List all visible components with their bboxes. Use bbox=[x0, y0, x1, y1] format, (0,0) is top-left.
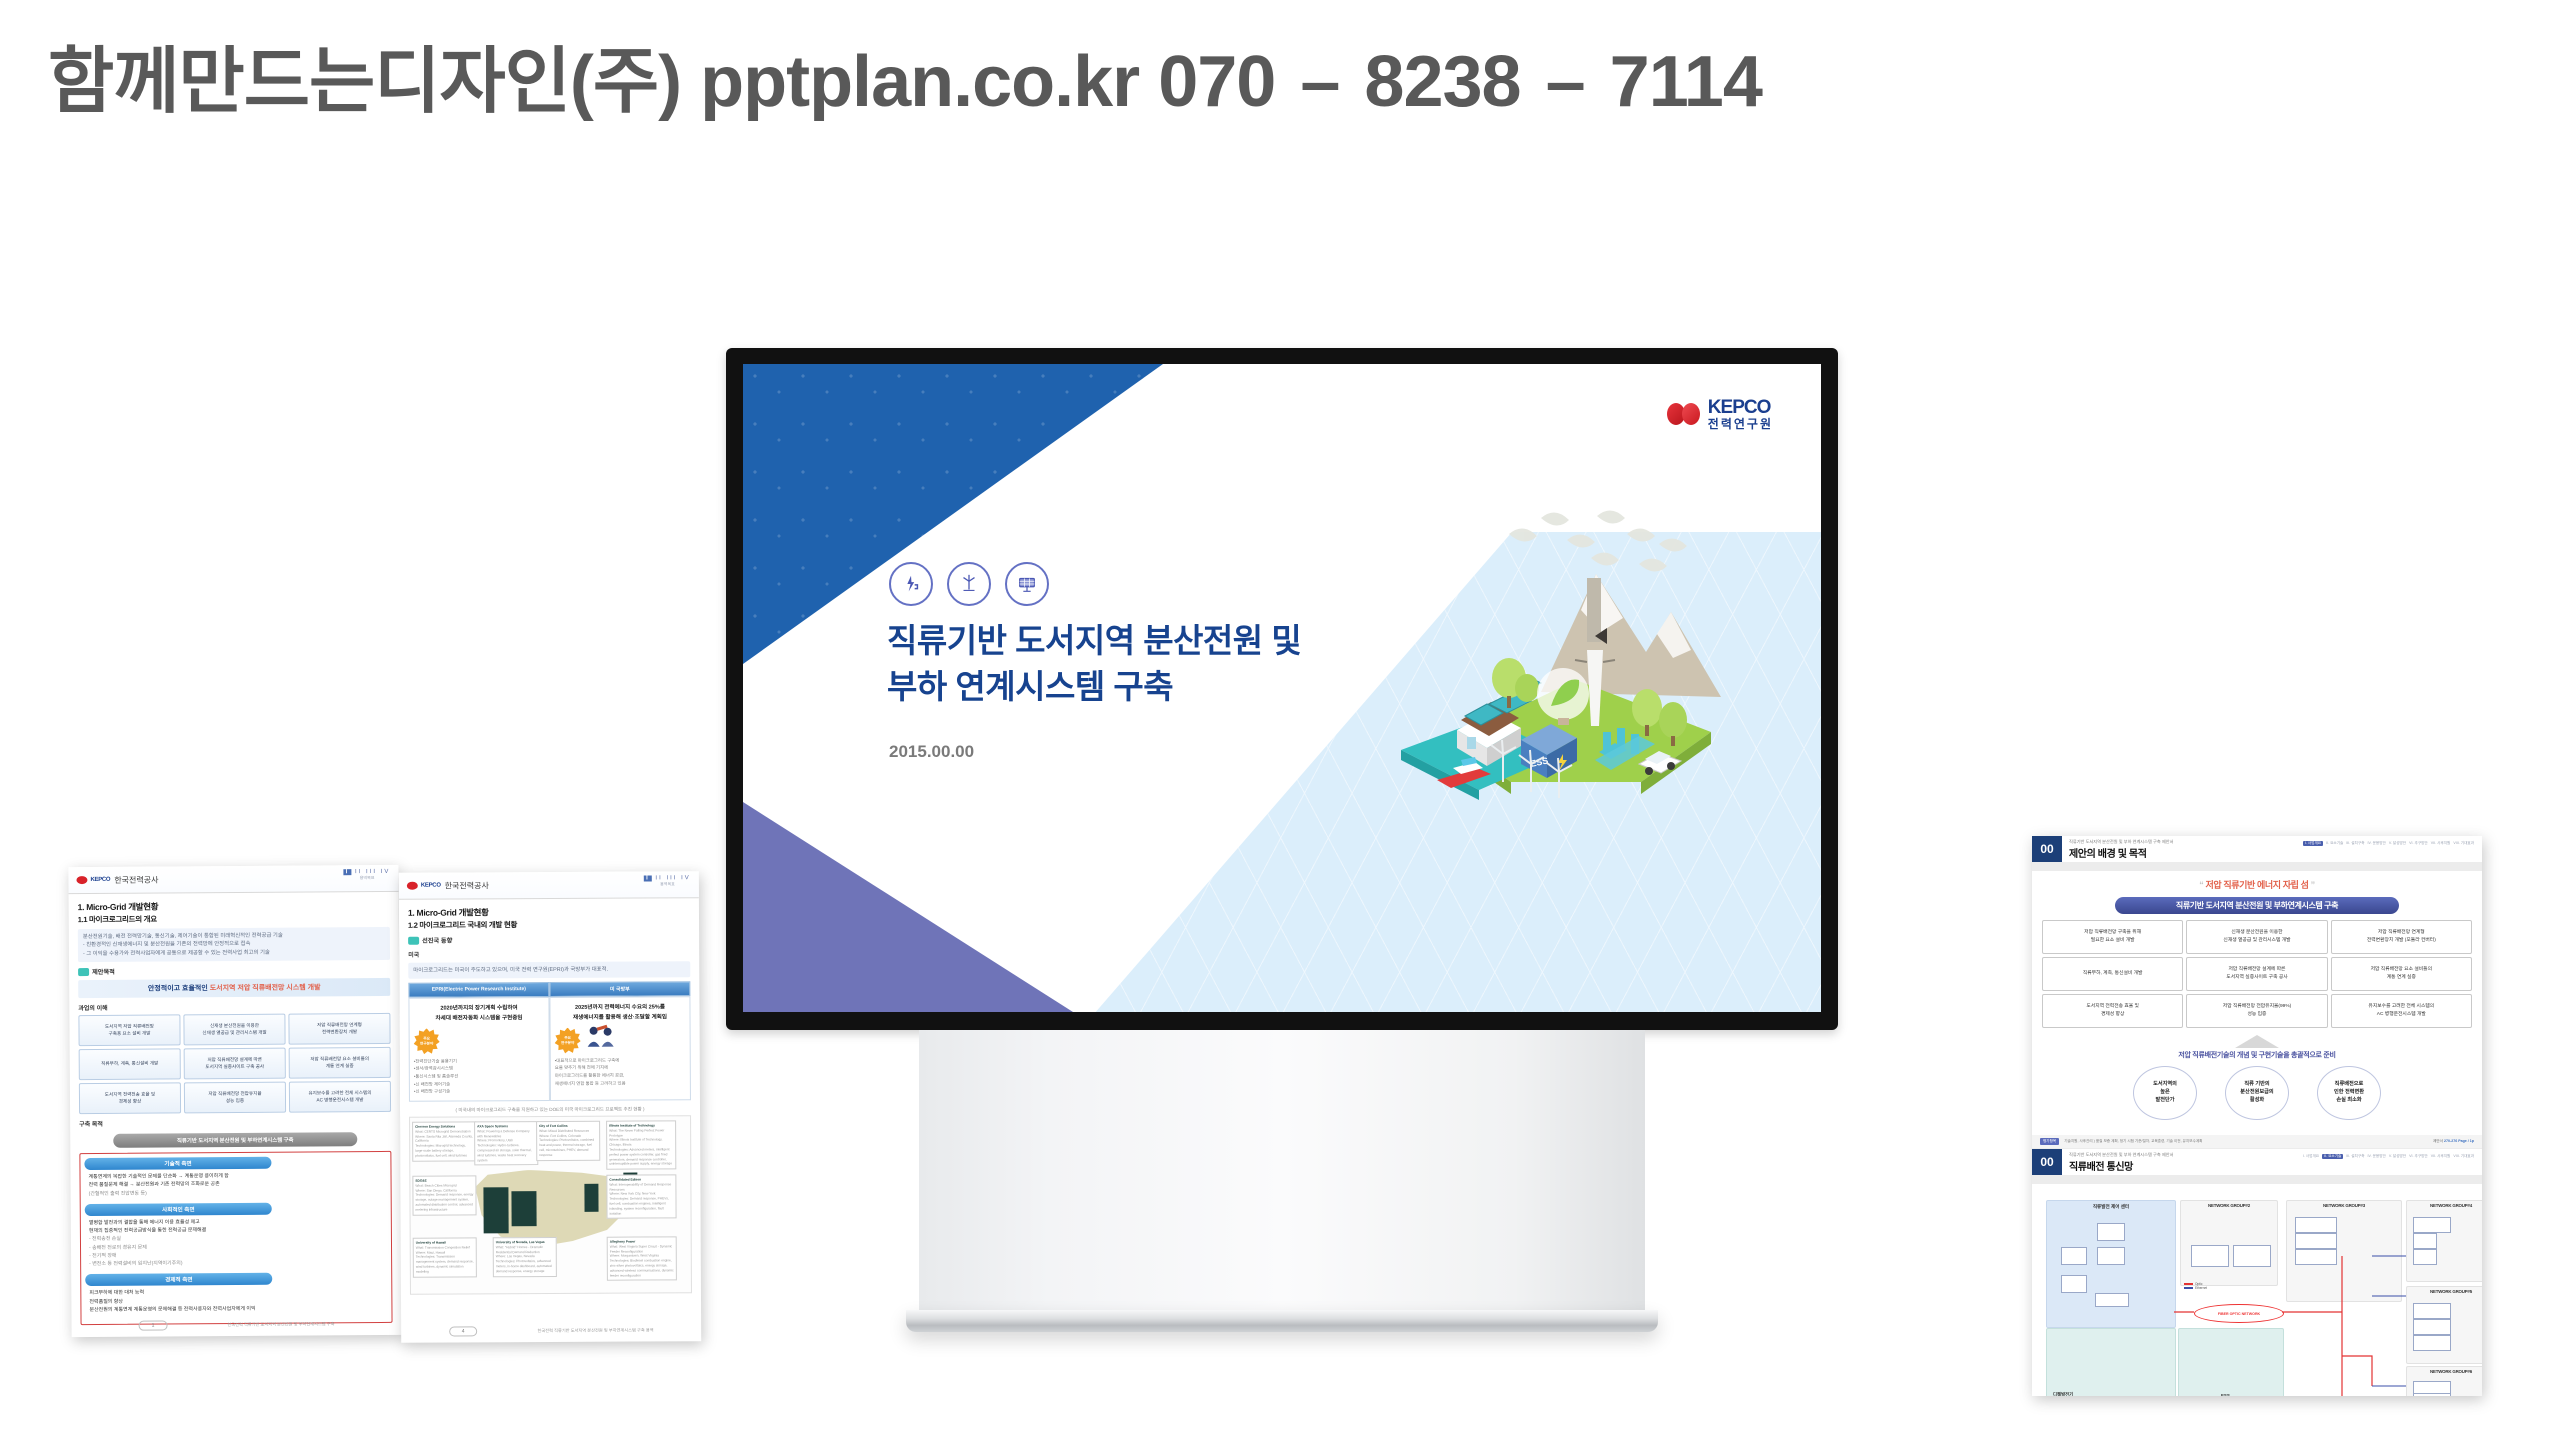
doc2-section-title: 1. Micro-Grid 개발현황 bbox=[408, 905, 690, 918]
doc1-task-cell: 신재생 분산전원을 이용한 신재생 열공급 및 관리시스템 개발 bbox=[183, 1014, 285, 1046]
doc2-us-map: Chevron Energy Solutions What: CERTS Mic… bbox=[409, 1115, 692, 1294]
header-dash-2: – bbox=[1540, 42, 1591, 122]
right-slide-a-band bbox=[2032, 862, 2482, 871]
kepco-logo-text: KEPCO 전력연구원 bbox=[1708, 398, 1773, 430]
monitor-stand-neck bbox=[919, 1030, 1645, 1330]
control-center-label: 직류발전 제어 센터 bbox=[2047, 1201, 2175, 1213]
slide-date: 2015.00.00 bbox=[889, 742, 974, 762]
nav-item[interactable]: I. 사업개요 bbox=[2303, 841, 2323, 846]
network-group-6: NETWORK GROUP#6 bbox=[2406, 1366, 2482, 1396]
doc1-aspect-list: 계통연계의 복잡한 기술적인 문제를 단순화 → 계통운영 용이하게 함 전력 … bbox=[89, 1171, 387, 1198]
right-cell: 저압 직류배전망 구축을 위해 필요한 요소 설비 개발 bbox=[2042, 920, 2183, 954]
slide-title-line-1: 직류기반 도서지역 분산전원 및 bbox=[887, 618, 1447, 664]
slide-title: 직류기반 도서지역 분산전원 및 부하 연계시스템 구축 bbox=[887, 618, 1447, 709]
doc2-table-cell: 2020년까지의 장기계획 수립하여 차세대 배전자동화 시스템을 구현중임 주… bbox=[408, 997, 550, 1101]
ess-block: ESS bbox=[2178, 1328, 2284, 1396]
diesel-ess-block: 디젤발전기 bbox=[2046, 1328, 2176, 1396]
map-callout: Illinois Institute of Technology What: T… bbox=[606, 1120, 676, 1170]
check-chip-icon bbox=[408, 936, 419, 944]
doc1-label-goal: 구축 목적 bbox=[79, 1117, 391, 1128]
document-page-left-2[interactable]: KEPCO 한국전력공사 I II III IV 용역목표 1. Micro-G… bbox=[399, 871, 701, 1343]
monitor-mockup: KEPCO 전력연구원 bbox=[726, 348, 1838, 1030]
doc1-task-cell: 저압 직류배전망 요소 설비들의 계통 연계 실증 bbox=[289, 1047, 391, 1079]
doc1-aspect-cap: 사회적인 측면 bbox=[85, 1203, 272, 1216]
nav-item[interactable]: II. 요소기술 bbox=[2322, 1154, 2343, 1159]
doc2-header: KEPCO 한국전력공사 I II III IV 용역목표 bbox=[399, 871, 699, 900]
kepco-logo: KEPCO 전력연구원 bbox=[1667, 398, 1773, 430]
doc1-paragraph: 분산전원기술, 배전 전력망기술, 통신기술, 제어기술이 통합된 미래혁신적인… bbox=[78, 927, 390, 962]
doc1-task-cell: 유지보수를 고려한 전체 시스템의 AC 병행운전시스템 개발 bbox=[289, 1081, 391, 1113]
doc1-footer-text: 한국전력 직류기반 도서지역 분산전원 및 부하연계시스템 구축 bbox=[227, 1321, 334, 1328]
map-callout: Chevron Energy Solutions What: CERTS Mic… bbox=[412, 1121, 476, 1161]
state-highlight bbox=[483, 1188, 508, 1234]
benefit-circle: 직류배전으로 인한 전력변환 손실 최소화 bbox=[2317, 1066, 2381, 1120]
doc2-section-sub: 1.2 마이크로그리드 국내외 개발 현황 bbox=[408, 918, 690, 930]
doc1-task-cell: 직류부하, 계측, 통신설비 개발 bbox=[79, 1049, 181, 1081]
doc1-goal-pill: 직류기반 도서지역 분산전원 및 부하연계시스템 구축 bbox=[114, 1132, 357, 1148]
wind-turbine-icon bbox=[947, 562, 991, 606]
nav-item[interactable]: III. 설치구축 bbox=[2346, 1154, 2364, 1159]
right-cell: 유지보수를 고려한 전체 시스템의 AC 병행운전시스템 개발 bbox=[2331, 994, 2472, 1028]
page-title: 함께만드는디자인(주) pptplan.co.kr 070 – 8238 – 7… bbox=[48, 22, 1762, 127]
doc1-banner: 안정적이고 효율적인 도서지역 저압 직류배전망 시스템 개발 bbox=[78, 978, 390, 998]
header-phone-1: 070 bbox=[1158, 42, 1275, 122]
ess-label: ESS bbox=[2221, 1393, 2230, 1396]
power-plug-icon bbox=[889, 562, 933, 606]
right-slide-b-header: 00 직류기반 도서지역 분산전원 및 부하 연계시스템 구축 제안서 직류배전… bbox=[2032, 1149, 2482, 1175]
right-slide-a-page: 제안서 270-276 Page / 1p bbox=[2433, 1139, 2474, 1144]
doc1-nav: I II III IV 용역목표 bbox=[344, 869, 391, 881]
doc1-tag-purpose: 제안목적 bbox=[78, 965, 390, 976]
doc2-footer: 4 한국전력 직류기반 도서지역 분산전원 및 부하연계시스템 구축 용역 bbox=[401, 1325, 701, 1337]
network-group-4: NETWORK GROUP#4 bbox=[2406, 1200, 2482, 1282]
right-slide-a-grid: 저압 직류배전망 구축을 위해 필요한 요소 설비 개발 신재생 분산전원을 이… bbox=[2042, 920, 2472, 1028]
nav-item[interactable]: II. 요소기술 bbox=[2326, 841, 2343, 846]
nav-item[interactable]: V. 달성방안 bbox=[2389, 841, 2406, 846]
research-badge-icon: 주요 연구분야 bbox=[555, 1027, 581, 1053]
right-slide-a-subtitle: 저압 직류배전기술의 개념 및 구현기술을 총괄적으로 준비 bbox=[2042, 1050, 2472, 1060]
nav-item[interactable]: IV. 운용방안 bbox=[2368, 841, 2386, 846]
map-callout: Consolidated Edison What: Interoperabili… bbox=[606, 1174, 676, 1219]
map-callout: Allegheny Power What: West Virginia Supe… bbox=[607, 1236, 677, 1281]
slide-illustration: ESS bbox=[1391, 482, 1771, 812]
nav-item[interactable]: IV. 운용방안 bbox=[2368, 1154, 2386, 1159]
header-dash-1: – bbox=[1294, 42, 1345, 122]
doc2-table-header: EPRI(Electric Power Research Institute) bbox=[408, 982, 549, 998]
map-callout: University of Hawaii What: Transmission … bbox=[413, 1237, 477, 1277]
right-slide-a-body: “ 저압 직류기반 에너지 자립 섬 ” 직류기반 도서지역 분산전원 및 부하… bbox=[2032, 871, 2482, 1127]
doc1-body: 1. Micro-Grid 개발현황 1.1 마이크로그리드의 개요 분산전원기… bbox=[69, 892, 402, 1332]
right-slide-a-titles: 직류기반 도서지역 분산전원 및 부하 연계시스템 구축 제안서 제안의 배경 … bbox=[2062, 836, 2173, 862]
doc2-corp-name: 한국전력공사 bbox=[445, 880, 489, 891]
doc2-tag-trend: 선진국 동향 bbox=[408, 934, 690, 944]
doc2-paragraph: 마이크로그리드는 미국이 주도하고 있으며, 미국 전력 연구원(EPRI)과 … bbox=[408, 961, 690, 979]
slide-purple-triangle bbox=[743, 802, 1073, 1012]
right-slide-a-pill: 직류기반 도서지역 분산전원 및 부하연계시스템 구축 bbox=[2115, 897, 2399, 914]
header-site: pptplan.co.kr bbox=[700, 42, 1139, 122]
right-slide-a-title: 제안의 배경 및 목적 bbox=[2069, 845, 2173, 860]
network-diagram: 직류발전 제어 센터 디젤발전기 ESS NETWORK GROUP#1 NET… bbox=[2042, 1196, 2472, 1396]
solar-panel-icon bbox=[1005, 562, 1049, 606]
doc2-map-caption: ( 미국내의 마이크로그리드 구축을 지원하고 있는 DOE의 미국 마이크로그… bbox=[409, 1106, 691, 1113]
right-slide-a-number: 00 bbox=[2032, 836, 2062, 862]
doc2-page-number: 4 bbox=[449, 1326, 478, 1336]
doc1-task-cell: 도서지역 전력전송 효율 및 경제성 향상 bbox=[79, 1083, 181, 1115]
research-badge-icon: 주요 연구분야 bbox=[414, 1028, 440, 1054]
state-highlight bbox=[511, 1191, 536, 1226]
nav-item[interactable]: VI. 추구방안 bbox=[2409, 841, 2428, 846]
up-arrow-icon bbox=[2235, 1035, 2279, 1048]
doc1-brand: KEPCO bbox=[90, 877, 110, 883]
doc2-kepco-logo-icon: KEPCO bbox=[407, 882, 441, 890]
doc1-kepco-logo-icon: KEPCO bbox=[76, 876, 110, 884]
map-callout: University of Nevada, Las Vegas What: "H… bbox=[493, 1237, 557, 1277]
map-callout: AXA Space Systems What: Powering a Defen… bbox=[474, 1121, 538, 1166]
doc1-label-tasks: 과업의 이해 bbox=[78, 1001, 390, 1012]
doc1-aspects-box: 기술적 측면 계통연계의 복잡한 기술적인 문제를 단순화 → 계통운영 용이하… bbox=[79, 1151, 392, 1325]
doc1-task-cell: 저압 직류배전망 연계형 전력변환장치 개발 bbox=[288, 1013, 390, 1045]
right-slide-b-nav[interactable]: I. 사업개요 II. 요소기술 III. 설치구축 IV. 운용방안 V. 달… bbox=[2303, 1154, 2474, 1159]
monitor-screen: KEPCO 전력연구원 bbox=[743, 364, 1821, 1012]
diagram-legend: Optic Ethernet bbox=[2184, 1282, 2207, 1290]
right-cell: 저압 직류배전망 연계형 전력변환장치 개발 (모듈라 컨버터) bbox=[2331, 920, 2472, 954]
header-phone-2: 8238 bbox=[1364, 42, 1520, 122]
nav-item[interactable]: VII. 사후지원 bbox=[2431, 841, 2451, 846]
right-slide-background-purpose: I. 사업개요 II. 요소기술 III. 설치구축 IV. 운용방안 V. 달… bbox=[2032, 836, 2482, 1149]
doc1-section-sub: 1.1 마이크로그리드의 개요 bbox=[78, 912, 390, 925]
nav-item[interactable]: VIII. 기대효과 bbox=[2453, 841, 2474, 846]
doc2-table-cell: 2025년까지 전력에너지 수요의 25%를 재생에너지를 활용해 생산·조달할… bbox=[549, 997, 691, 1101]
doc2-table: EPRI(Electric Power Research Institute) … bbox=[408, 982, 691, 1102]
right-slide-dc-network: I. 사업개요 II. 요소기술 III. 설치구축 IV. 운용방안 V. 달… bbox=[2032, 1149, 2482, 1396]
fiber-optic-network-node: FIBER OPTIC NETWORK bbox=[2194, 1304, 2284, 1323]
right-cell: 저압 직류배전망 전압유지율(99%) 성능 입증 bbox=[2186, 994, 2327, 1028]
doc1-aspect-cap: 기술적 측면 bbox=[84, 1157, 271, 1170]
document-page-left-1[interactable]: KEPCO 한국전력공사 I II III IV 용역목표 1. Micro-G… bbox=[68, 865, 401, 1337]
nav-item[interactable]: VI. 추구방안 bbox=[2409, 1154, 2428, 1159]
benefit-circle: 도서지역의 높은 발전단가 bbox=[2133, 1066, 2197, 1120]
doc1-corp-name: 한국전력공사 bbox=[114, 874, 158, 885]
map-callout: City of Fort Collins What: Mixed Distrib… bbox=[536, 1121, 600, 1161]
doc1-page-number: 1 bbox=[139, 1320, 168, 1330]
doc2-brand: KEPCO bbox=[421, 883, 441, 889]
nav-item[interactable]: VII. 사후지원 bbox=[2431, 1154, 2451, 1159]
doc1-aspect-list: 피크부하에 대한 대처 능력 전력품질의 향상 분산전원의 계통연계 계통운영의… bbox=[89, 1287, 387, 1314]
doc1-task-cell: 도서지역 저압 직류배전망 구축용 요소 설비 개발 bbox=[78, 1015, 180, 1047]
nav-item[interactable]: III. 설치구축 bbox=[2346, 841, 2364, 846]
right-cell: 저압 직류배전망 요소 설비들의 계통 연계 실증 bbox=[2331, 957, 2472, 991]
document-page-right[interactable]: I. 사업개요 II. 요소기술 III. 설치구축 IV. 운용방안 V. 달… bbox=[2032, 836, 2482, 1396]
doc2-nav: I II III IV 용역목표 bbox=[644, 875, 691, 887]
right-slide-a-footer-text: 기술지원, 사후관리 ) 품질 보증 계획, 정기 시험 기준/절차, 교육훈련… bbox=[2064, 1139, 2433, 1144]
nav-item[interactable]: I. 사업개요 bbox=[2303, 1154, 2319, 1159]
doc2-nav-caption: 용역목표 bbox=[644, 881, 691, 887]
right-slide-a-header: 00 직류기반 도서지역 분산전원 및 부하 연계시스템 구축 제안서 제안의 … bbox=[2032, 836, 2482, 862]
right-cell: 도서지역 전력전송 효율 및 경제성 향상 bbox=[2042, 994, 2183, 1028]
legend-label: Ethernet bbox=[2195, 1286, 2207, 1290]
kepco-sub: 전력연구원 bbox=[1708, 418, 1773, 430]
control-center-block: 직류발전 제어 센터 bbox=[2046, 1200, 2176, 1328]
right-slide-b-body: 직류발전 제어 센터 디젤발전기 ESS NETWORK GROUP#1 NET… bbox=[2032, 1184, 2482, 1396]
right-slide-a-footer-label: 평가항목 bbox=[2040, 1138, 2059, 1145]
right-slide-b-number: 00 bbox=[2032, 1149, 2062, 1175]
doc2-table-header: 미 국방부 bbox=[549, 982, 690, 998]
right-slide-b-titles: 직류기반 도서지역 분산전원 및 부하 연계시스템 구축 제안서 직류배전 통신… bbox=[2062, 1149, 2173, 1175]
doc1-header: KEPCO 한국전력공사 I II III IV 용역목표 bbox=[68, 865, 398, 894]
benefit-circle: 직류 기반의 분산전원보급의 활성화 bbox=[2225, 1066, 2289, 1120]
slide-badge-row bbox=[889, 562, 1049, 606]
presentation-slide: KEPCO 전력연구원 bbox=[743, 364, 1821, 1012]
doc1-task-cell: 저압 직류배전망 설계에 따른 도서지역 실증사이트 구축 공사 bbox=[184, 1048, 286, 1080]
right-slide-b-band bbox=[2032, 1175, 2482, 1184]
right-slide-a-circles: 도서지역의 높은 발전단가 직류 기반의 분산전원보급의 활성화 직류배전으로 … bbox=[2042, 1066, 2472, 1120]
check-chip-icon bbox=[78, 968, 89, 976]
network-group-2: NETWORK GROUP#2 bbox=[2180, 1200, 2278, 1286]
right-cell: 저압 직류배전망 설계에 따른 도서지역 실증사이트 구축 공사 bbox=[2186, 957, 2327, 991]
monitor-stand-base bbox=[906, 1310, 1658, 1332]
doc1-task-cell: 저압 직류배전망 전압유지율 성능 입증 bbox=[184, 1082, 286, 1114]
right-cell: 직류부하, 계측, 통신설비 개발 bbox=[2042, 957, 2183, 991]
right-slide-a-footer: 평가항목 기술지원, 사후관리 ) 품질 보증 계획, 정기 시험 기준/절차,… bbox=[2032, 1135, 2482, 1148]
doc2-footer-text: 한국전력 직류기반 도서지역 분산전원 및 부하연계시스템 구축 용역 bbox=[538, 1327, 654, 1334]
state-highlight bbox=[584, 1184, 598, 1212]
header-company-kr: 함께만드는디자인(주) bbox=[48, 42, 681, 122]
doc2-country-label: 미국 bbox=[408, 948, 690, 958]
doc1-section-title: 1. Micro-Grid 개발현황 bbox=[78, 899, 390, 913]
doc1-task-grid: 도서지역 저압 직류배전망 구축용 요소 설비 개발 신재생 분산전원을 이용한… bbox=[78, 1013, 391, 1114]
smoke-icon bbox=[1509, 510, 1687, 571]
header-phone-3: 7114 bbox=[1610, 42, 1762, 122]
doc1-aspect-list: 열병합 발전과의 결합을 통해 에너지 이용 효율성 제고 현재의 집중적인 전… bbox=[89, 1217, 387, 1269]
right-slide-a-nav[interactable]: I. 사업개요 II. 요소기술 III. 설치구축 IV. 운용방안 V. 달… bbox=[2303, 841, 2474, 846]
slide-title-line-2: 부하 연계시스템 구축 bbox=[887, 664, 1447, 710]
nav-item[interactable]: V. 달성방안 bbox=[2389, 1154, 2406, 1159]
people-icon bbox=[585, 1023, 619, 1047]
right-slide-b-title: 직류배전 통신망 bbox=[2069, 1158, 2173, 1173]
doc1-nav-caption: 용역목표 bbox=[344, 875, 391, 881]
doc1-aspect-cap: 경제적 측면 bbox=[85, 1273, 272, 1286]
right-cell: 신재생 분산전원을 이용한 신재생 열공급 및 관리시스템 개발 bbox=[2186, 920, 2327, 954]
map-callout: SDG&E What: Beach Cities Microgrid Where… bbox=[412, 1175, 476, 1215]
doc2-body: 1. Micro-Grid 개발현황 1.2 마이크로그리드 국내외 개발 현황… bbox=[399, 898, 701, 1302]
network-group-3: NETWORK GROUP#3 bbox=[2286, 1200, 2402, 1302]
kepco-logo-mark-icon bbox=[1667, 403, 1701, 425]
network-group-5: NETWORK GROUP#5 bbox=[2406, 1286, 2482, 1364]
kepco-brand: KEPCO bbox=[1708, 398, 1773, 417]
nav-item[interactable]: VIII. 기대효과 bbox=[2453, 1154, 2474, 1159]
diesel-label: 디젤발전기 bbox=[2053, 1392, 2073, 1396]
right-slide-a-quote: “ 저압 직류기반 에너지 자립 섬 ” bbox=[2042, 878, 2472, 891]
